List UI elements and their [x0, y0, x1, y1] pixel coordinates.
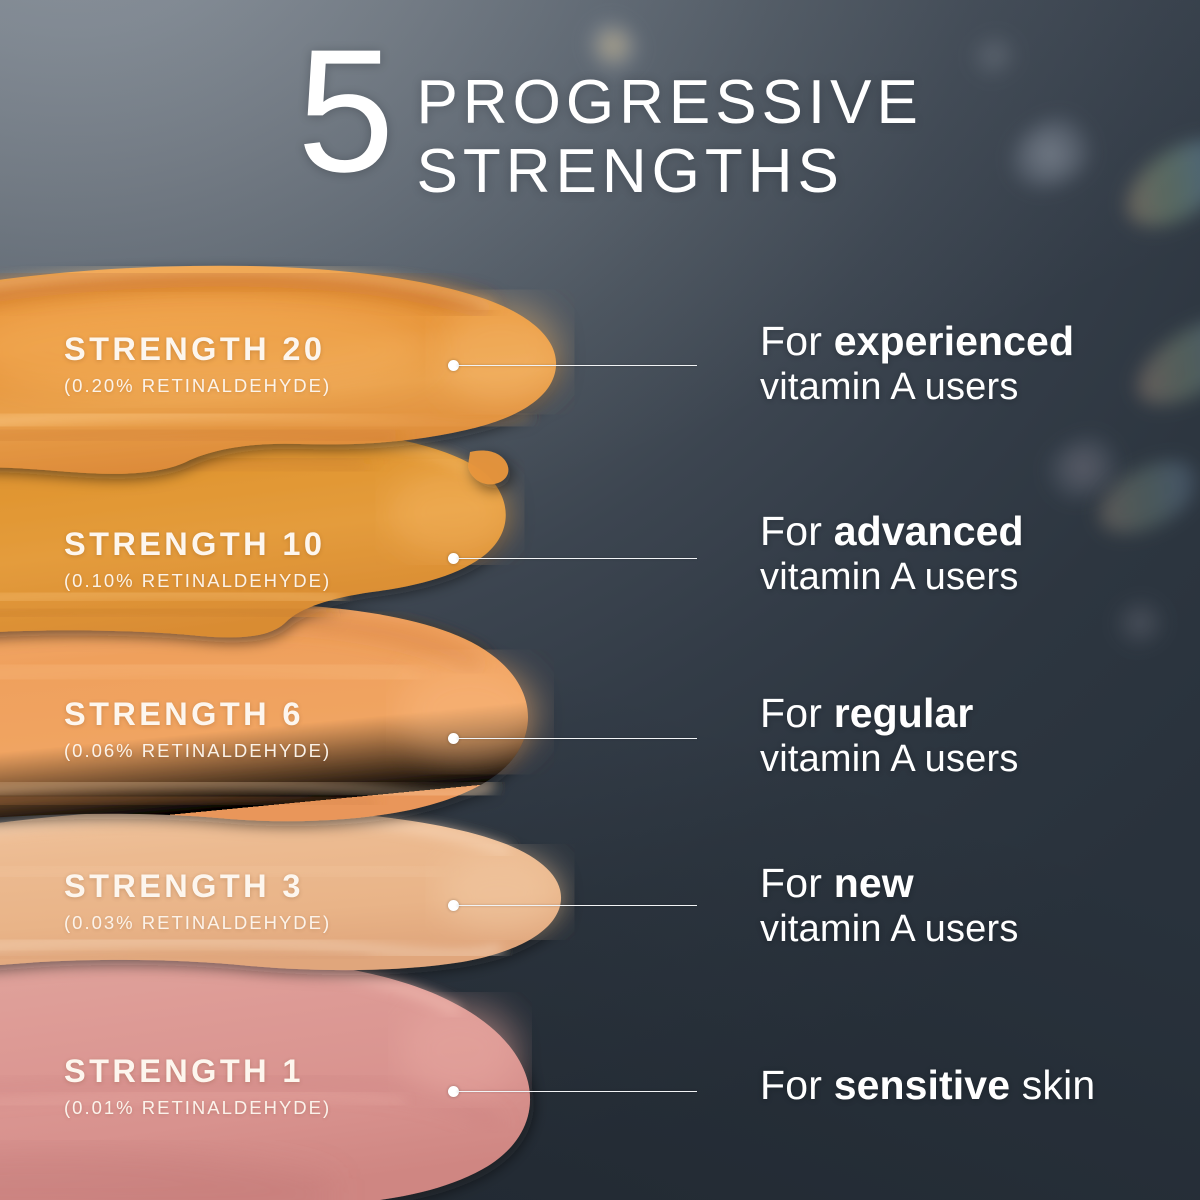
description-suffix: skin	[1010, 1062, 1095, 1108]
page-title: 5 PROGRESSIVE STRENGTHS	[0, 46, 1200, 207]
description-1: For sensitive skin	[760, 1062, 1095, 1109]
description-prefix: For	[760, 1062, 834, 1108]
swatch-label-title: STRENGTH 3	[64, 870, 331, 903]
description-prefix: For	[760, 860, 834, 906]
description-10: For advanced vitamin A users	[760, 508, 1024, 600]
swatch-label-10: STRENGTH 10 (0.10% RETINALDEHYDE)	[64, 528, 331, 590]
connector-line-1	[448, 1084, 698, 1098]
description-line-2: vitamin A users	[760, 555, 1024, 600]
headline-text: PROGRESSIVE STRENGTHS	[416, 68, 922, 207]
description-20: For experienced vitamin A users	[760, 318, 1074, 410]
description-emphasis: advanced	[834, 508, 1024, 554]
description-line-1: For experienced	[760, 318, 1074, 365]
description-emphasis: regular	[834, 690, 974, 736]
connector-line-6	[448, 731, 698, 745]
description-3: For new vitamin A users	[760, 860, 1019, 952]
description-emphasis: new	[834, 860, 914, 906]
swatch-label-20: STRENGTH 20 (0.20% RETINALDEHYDE)	[64, 333, 331, 395]
poster-canvas: 5 PROGRESSIVE STRENGTHS STRENGTH 20 (0.2…	[0, 0, 1200, 1200]
connector-rule	[457, 738, 697, 740]
connector-rule	[457, 365, 697, 367]
headline-line-2: STRENGTHS	[416, 137, 922, 206]
description-emphasis: experienced	[834, 318, 1074, 364]
swatch-label-title: STRENGTH 20	[64, 333, 331, 366]
headline-numeral: 5	[297, 40, 390, 184]
description-line-1: For advanced	[760, 508, 1024, 555]
description-line-1: For new	[760, 860, 1019, 907]
connector-line-10	[448, 551, 698, 565]
swatch-label-subtitle: (0.10% RETINALDEHYDE)	[64, 572, 331, 591]
connector-rule	[457, 558, 697, 560]
swatch-label-subtitle: (0.03% RETINALDEHYDE)	[64, 914, 331, 933]
swatch-label-title: STRENGTH 1	[64, 1055, 331, 1088]
swatch-label-1: STRENGTH 1 (0.01% RETINALDEHYDE)	[64, 1055, 331, 1117]
swatch-label-title: STRENGTH 10	[64, 528, 331, 561]
description-line-2: vitamin A users	[760, 907, 1019, 952]
description-prefix: For	[760, 318, 834, 364]
description-line-2: vitamin A users	[760, 365, 1074, 410]
connector-rule	[457, 905, 697, 907]
swatch-label-subtitle: (0.20% RETINALDEHYDE)	[64, 377, 331, 396]
description-emphasis: sensitive	[834, 1062, 1010, 1108]
swatch-label-6: STRENGTH 6 (0.06% RETINALDEHYDE)	[64, 698, 331, 760]
description-line-1: For regular	[760, 690, 1019, 737]
connector-rule	[457, 1091, 697, 1093]
connector-line-3	[448, 898, 698, 912]
swatch-label-subtitle: (0.01% RETINALDEHYDE)	[64, 1099, 331, 1118]
description-6: For regular vitamin A users	[760, 690, 1019, 782]
headline-line-1: PROGRESSIVE	[416, 68, 922, 137]
description-line-2: vitamin A users	[760, 737, 1019, 782]
swatch-label-title: STRENGTH 6	[64, 698, 331, 731]
description-line-1: For sensitive skin	[760, 1062, 1095, 1109]
description-prefix: For	[760, 508, 834, 554]
description-prefix: For	[760, 690, 834, 736]
swatch-label-3: STRENGTH 3 (0.03% RETINALDEHYDE)	[64, 870, 331, 932]
swatch-label-subtitle: (0.06% RETINALDEHYDE)	[64, 742, 331, 761]
connector-line-20	[448, 358, 698, 372]
